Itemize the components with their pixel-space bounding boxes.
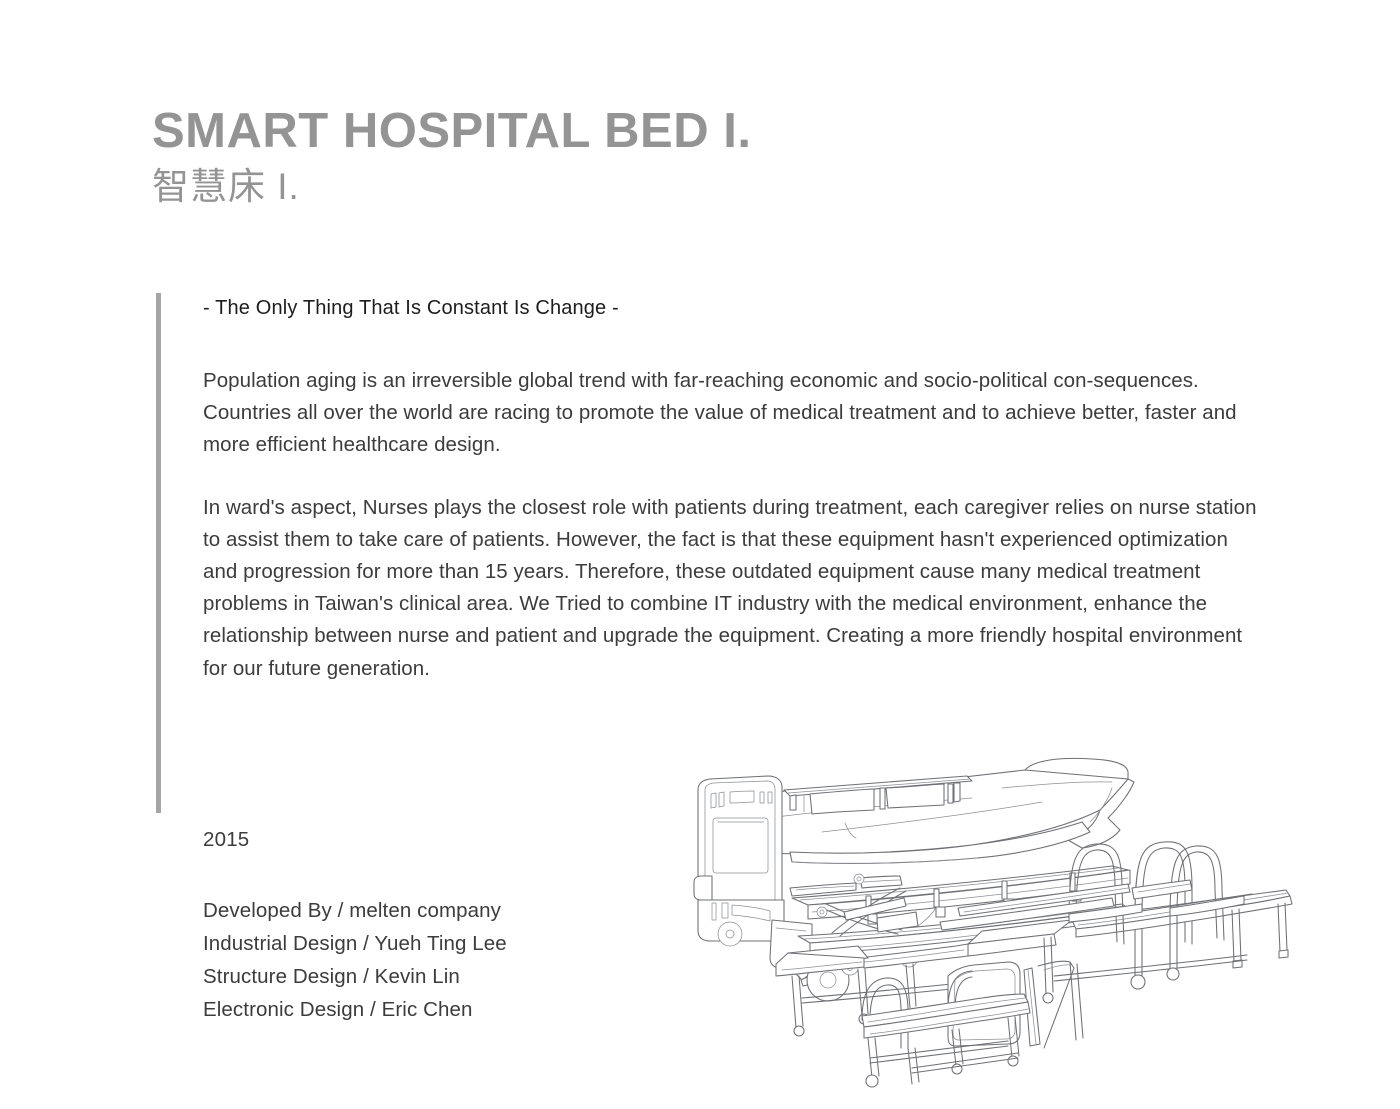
hospital-bed-line-drawing xyxy=(672,748,1297,1088)
tagline: - The Only Thing That Is Constant Is Cha… xyxy=(203,295,1268,321)
paragraph-2: In ward's aspect, Nurses plays the close… xyxy=(203,492,1268,685)
title-block: SMART HOSPITAL BED I. 智慧床 I. xyxy=(152,105,1052,210)
credits-block: Developed By / melten company Industrial… xyxy=(203,894,507,1026)
credit-line-structure-design: Structure Design / Kevin Lin xyxy=(203,960,507,993)
page-title-english: SMART HOSPITAL BED I. xyxy=(152,105,1052,158)
body-copy: - The Only Thing That Is Constant Is Cha… xyxy=(203,295,1268,685)
page-title-chinese: 智慧床 I. xyxy=(152,164,1052,210)
project-year: 2015 xyxy=(203,828,249,852)
vertical-accent-rule xyxy=(156,293,161,813)
credit-line-industrial-design: Industrial Design / Yueh Ting Lee xyxy=(203,927,507,960)
hospital-bed-illustration xyxy=(672,748,1297,1088)
credit-line-developed-by: Developed By / melten company xyxy=(203,894,507,927)
credit-line-electronic-design: Electronic Design / Eric Chen xyxy=(203,993,507,1026)
companion-chair xyxy=(862,961,1083,1087)
poster-page: SMART HOSPITAL BED I. 智慧床 I. - The Only … xyxy=(0,0,1400,1109)
paragraph-1: Population aging is an irreversible glob… xyxy=(203,365,1268,462)
